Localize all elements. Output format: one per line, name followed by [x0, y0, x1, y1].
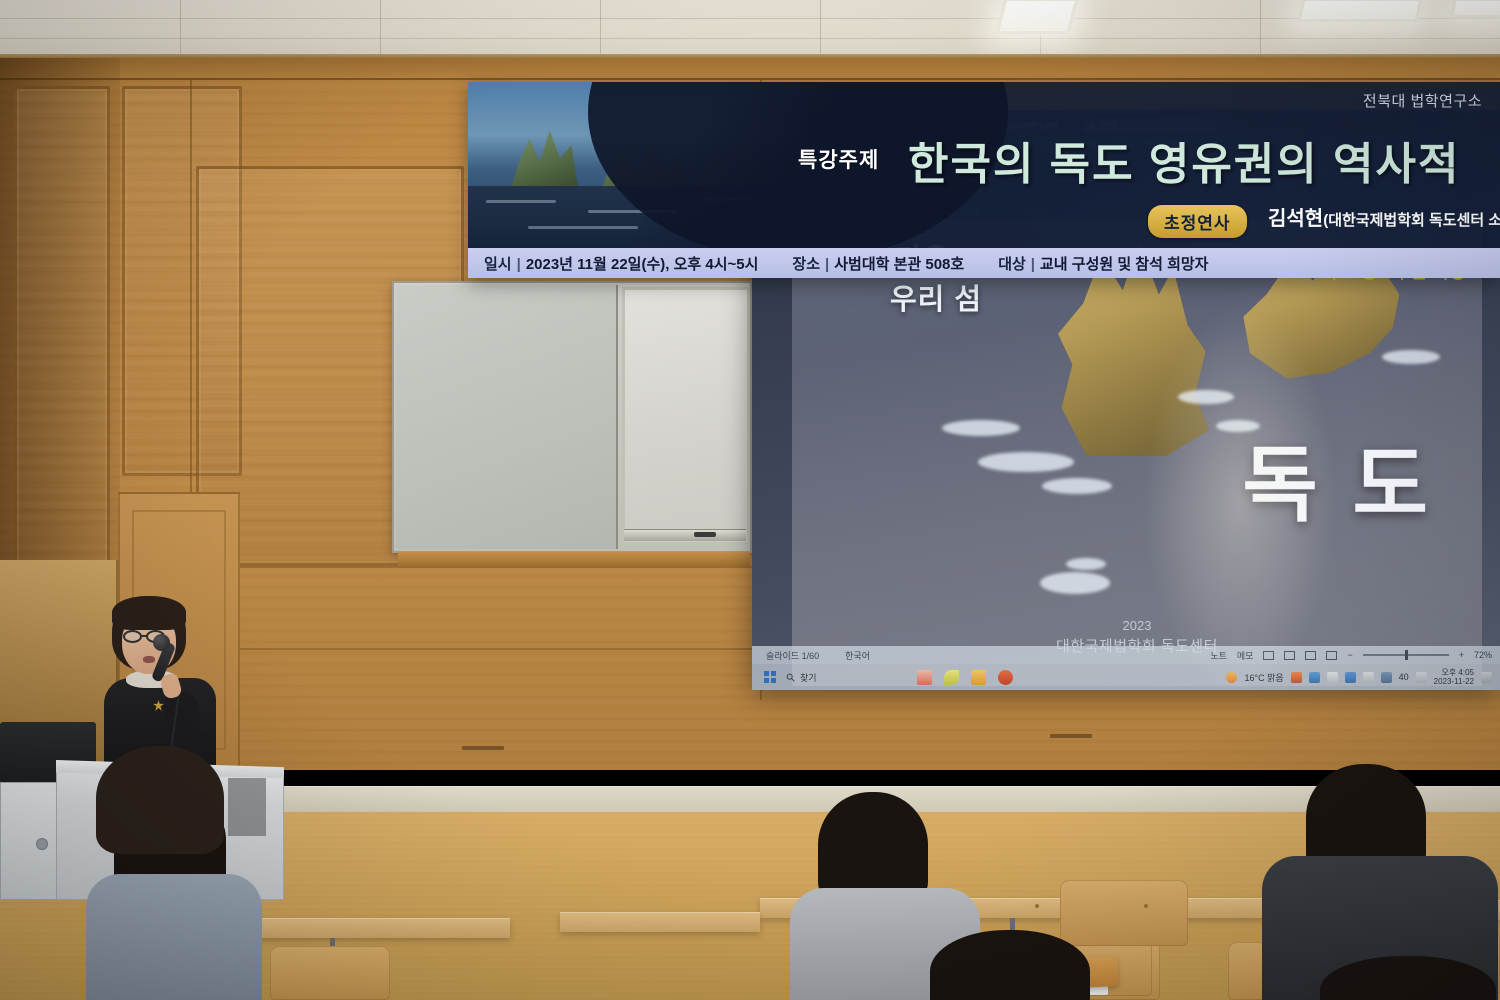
- audience-member: [96, 746, 228, 866]
- place-value: 사범대학 본관 508호: [834, 256, 964, 273]
- taskbar-clock[interactable]: 오후 4:05 2023-11-22: [1434, 668, 1474, 686]
- sea-foam: [978, 452, 1074, 472]
- weather-icon[interactable]: [1226, 672, 1237, 683]
- whiteboard-sliding-panel[interactable]: [396, 285, 618, 549]
- equipment-knob[interactable]: [36, 838, 48, 850]
- slide-sorter-icon[interactable]: [1284, 651, 1295, 660]
- powerpoint-status-bar: 슬라이드 1/60 한국어 노트 메모 − + 72%: [752, 646, 1500, 664]
- powerpoint-icon[interactable]: [998, 670, 1013, 685]
- separator: |: [1031, 256, 1035, 273]
- banner-info-strip: 일시|2023년 11월 22일(수), 오후 4시~5시 장소|사범대학 본관…: [468, 248, 1500, 278]
- flame-icon[interactable]: [1291, 672, 1302, 683]
- notes-button[interactable]: 노트: [1210, 649, 1227, 662]
- banner-date-item: 일시|2023년 11월 22일(수), 오후 4시~5시: [484, 253, 758, 274]
- place-label: 장소: [792, 256, 820, 273]
- clock-date: 2023-11-22: [1434, 677, 1474, 686]
- sea-foam: [1040, 572, 1110, 594]
- zoom-in-icon[interactable]: +: [1459, 650, 1464, 660]
- audience-hair: [930, 930, 1090, 1000]
- file-explorer-icon[interactable]: [971, 670, 986, 685]
- zoom-out-icon[interactable]: −: [1347, 650, 1352, 660]
- banner-subject-tag: 특강주제: [798, 144, 879, 174]
- glasses-bridge: [142, 635, 148, 637]
- event-banner: 전북대 법학연구소 특강주제 한국의 독도 영유권의 역사적 초정연사 김석현(…: [468, 82, 1500, 278]
- volume-level: 40: [1399, 672, 1409, 682]
- windows-start-icon[interactable]: [764, 671, 776, 683]
- ceiling: [0, 0, 1500, 58]
- taskbar-search-label: 찾기: [800, 671, 817, 684]
- date-value: 2023년 11월 22일(수), 오후 4시~5시: [526, 256, 759, 273]
- zoom-level[interactable]: 72%: [1474, 650, 1492, 660]
- sea-foam: [1382, 350, 1440, 364]
- network-icon[interactable]: [1309, 672, 1320, 683]
- sea-foam: [1178, 390, 1234, 404]
- ceiling-light: [1450, 0, 1500, 18]
- audience-member: [1320, 956, 1490, 1000]
- chair-screw: [1035, 904, 1039, 908]
- marker: [694, 532, 716, 537]
- slide-footer-year: 2023: [792, 617, 1482, 636]
- presenter-hair-fringe: [112, 596, 186, 630]
- wall-top-rail: [0, 58, 1500, 80]
- zoom-slider[interactable]: [1363, 654, 1449, 656]
- lecture-hall-photo: 2023-대학생용 [Compatibility Mode] - PowerPo…: [0, 0, 1500, 1000]
- stage-vent: [462, 746, 504, 750]
- audience-member: [930, 930, 1090, 1000]
- microphone-icon[interactable]: [153, 634, 170, 651]
- sea-foam: [1042, 478, 1112, 494]
- banner-main-title: 한국의 독도 영유권의 역사적: [908, 128, 1460, 192]
- speaker-icon[interactable]: [1381, 672, 1392, 683]
- chair[interactable]: [270, 946, 390, 1000]
- slide-headline: 독 도: [1242, 418, 1434, 537]
- ceiling-light: [1297, 0, 1422, 22]
- banner-speaker-badge: 초정연사: [1148, 205, 1247, 238]
- presenter-mouth: [143, 656, 155, 663]
- marker-tray: [624, 529, 746, 541]
- slideshow-icon[interactable]: [1326, 651, 1337, 660]
- normal-view-icon[interactable]: [1263, 651, 1274, 660]
- desk-row: [560, 912, 760, 932]
- language-ime-icon[interactable]: [1416, 672, 1427, 683]
- speaker-name-text: 김석현: [1268, 208, 1323, 230]
- clock-time: 오후 4:05: [1441, 668, 1474, 677]
- speaker-affiliation-text: (대한국제법학회 독도센터 소: [1323, 212, 1500, 229]
- audience-body: [86, 874, 262, 1000]
- sea-foam: [942, 420, 1020, 436]
- banner-audience-item: 대상|교내 구성원 및 참석 희망자: [998, 253, 1208, 274]
- banner-organizer: 전북대 법학연구소: [1363, 90, 1482, 111]
- taskbar-app-icons: [917, 670, 1013, 685]
- comments-button[interactable]: 메모: [1237, 649, 1254, 662]
- onedrive-icon[interactable]: [1345, 672, 1356, 683]
- stage-vent: [1050, 734, 1092, 738]
- audience-hair: [1320, 956, 1496, 1000]
- language-indicator[interactable]: 한국어: [845, 649, 870, 662]
- sea-foam: [1066, 558, 1106, 570]
- audience-label: 대상: [998, 256, 1026, 273]
- notification-center-icon[interactable]: [1481, 672, 1492, 683]
- taskbar-search[interactable]: 찾기: [786, 671, 817, 684]
- pickle-jar-icon[interactable]: [917, 670, 932, 685]
- search-icon: [786, 673, 795, 682]
- banner-place-item: 장소|사범대학 본관 508호: [792, 253, 964, 274]
- separator: |: [825, 256, 829, 273]
- taskbar-system-tray: 16°C 맑음 40 오후 4:05 2023-11-22: [1226, 668, 1492, 686]
- glasses-left-lens-icon: [123, 630, 142, 643]
- chair-screw: [1144, 904, 1148, 908]
- date-label: 일시: [484, 256, 512, 273]
- whiteboard-ledge: [398, 551, 750, 567]
- slide-text-line2: 우리 섬: [890, 276, 982, 318]
- ime-mode-icon[interactable]: [1363, 672, 1374, 683]
- powerpoint-slide: 아름다운 우리 섬 독 도 2023 대한국제법학회 독도센터: [792, 220, 1482, 686]
- whiteboard: [392, 281, 752, 553]
- battery-icon[interactable]: [1327, 672, 1338, 683]
- banner-speaker-name: 김석현(대한국제법학회 독도센터 소: [1268, 202, 1500, 231]
- separator: |: [517, 256, 521, 273]
- audience-value: 교내 구성원 및 참석 희망자: [1040, 256, 1208, 273]
- slide-counter[interactable]: 슬라이드 1/60: [766, 649, 819, 662]
- whiteboard-surface: [622, 287, 750, 545]
- ceiling-light: [996, 0, 1079, 34]
- windows-taskbar: 찾기 16°C 맑음 40 오후 4:05: [752, 664, 1500, 690]
- desk-row: [250, 918, 510, 938]
- weather-text[interactable]: 16°C 맑음: [1244, 671, 1283, 684]
- reading-view-icon[interactable]: [1305, 651, 1316, 660]
- audience-hair: [96, 746, 224, 854]
- audience-hair: [818, 792, 928, 902]
- leaf-icon[interactable]: [944, 670, 959, 685]
